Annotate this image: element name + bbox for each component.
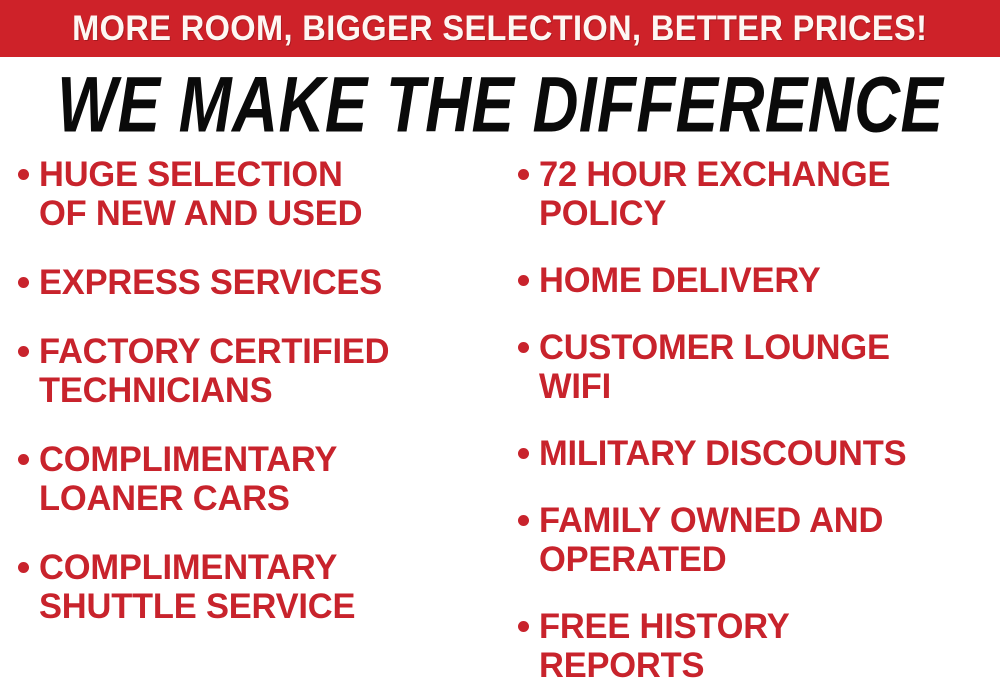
- features-right-column: 72 HOUR EXCHANGE POLICY HOME DELIVERY CU…: [500, 155, 1000, 694]
- bullet-dot-icon: [518, 342, 529, 353]
- list-item: HUGE SELECTION OF NEW AND USED: [18, 155, 498, 233]
- feature-text: MILITARY DISCOUNTS: [539, 434, 906, 473]
- feature-text: FREE HISTORY REPORTS: [539, 607, 789, 685]
- list-item: 72 HOUR EXCHANGE POLICY: [518, 155, 1000, 233]
- feature-text: COMPLIMENTARY SHUTTLE SERVICE: [39, 548, 355, 626]
- advertisement-banner: MORE ROOM, BIGGER SELECTION, BETTER PRIC…: [0, 0, 1000, 694]
- main-headline: WE MAKE THE DIFFERENCE: [57, 66, 943, 144]
- bullet-dot-icon: [518, 169, 529, 180]
- feature-text: HUGE SELECTION OF NEW AND USED: [39, 155, 362, 233]
- list-item: CUSTOMER LOUNGE WIFI: [518, 328, 1000, 406]
- feature-text: CUSTOMER LOUNGE WIFI: [539, 328, 890, 406]
- list-item: EXPRESS SERVICES: [18, 263, 498, 302]
- bullet-dot-icon: [518, 448, 529, 459]
- bullet-dot-icon: [18, 346, 29, 357]
- list-item: COMPLIMENTARY SHUTTLE SERVICE: [18, 548, 498, 626]
- feature-text: FAMILY OWNED AND OPERATED: [539, 501, 883, 579]
- bullet-dot-icon: [18, 277, 29, 288]
- promo-banner-text: MORE ROOM, BIGGER SELECTION, BETTER PRIC…: [72, 11, 927, 46]
- list-item: MILITARY DISCOUNTS: [518, 434, 1000, 473]
- bullet-dot-icon: [18, 454, 29, 465]
- list-item: FACTORY CERTIFIED TECHNICIANS: [18, 332, 498, 410]
- bullet-dot-icon: [518, 275, 529, 286]
- feature-text: 72 HOUR EXCHANGE POLICY: [539, 155, 890, 233]
- feature-text: FACTORY CERTIFIED TECHNICIANS: [39, 332, 389, 410]
- features-columns: HUGE SELECTION OF NEW AND USED EXPRESS S…: [0, 155, 1000, 694]
- list-item: FAMILY OWNED AND OPERATED: [518, 501, 1000, 579]
- feature-text: EXPRESS SERVICES: [39, 263, 382, 302]
- bullet-dot-icon: [18, 169, 29, 180]
- bullet-dot-icon: [18, 562, 29, 573]
- bullet-dot-icon: [518, 515, 529, 526]
- headline-container: WE MAKE THE DIFFERENCE: [0, 66, 1000, 144]
- list-item: FREE HISTORY REPORTS: [518, 607, 1000, 685]
- list-item: HOME DELIVERY: [518, 261, 1000, 300]
- feature-text: HOME DELIVERY: [539, 261, 821, 300]
- bullet-dot-icon: [518, 621, 529, 632]
- features-left-column: HUGE SELECTION OF NEW AND USED EXPRESS S…: [0, 155, 500, 694]
- list-item: COMPLIMENTARY LOANER CARS: [18, 440, 498, 518]
- feature-text: COMPLIMENTARY LOANER CARS: [39, 440, 337, 518]
- top-promo-banner: MORE ROOM, BIGGER SELECTION, BETTER PRIC…: [0, 0, 1000, 57]
